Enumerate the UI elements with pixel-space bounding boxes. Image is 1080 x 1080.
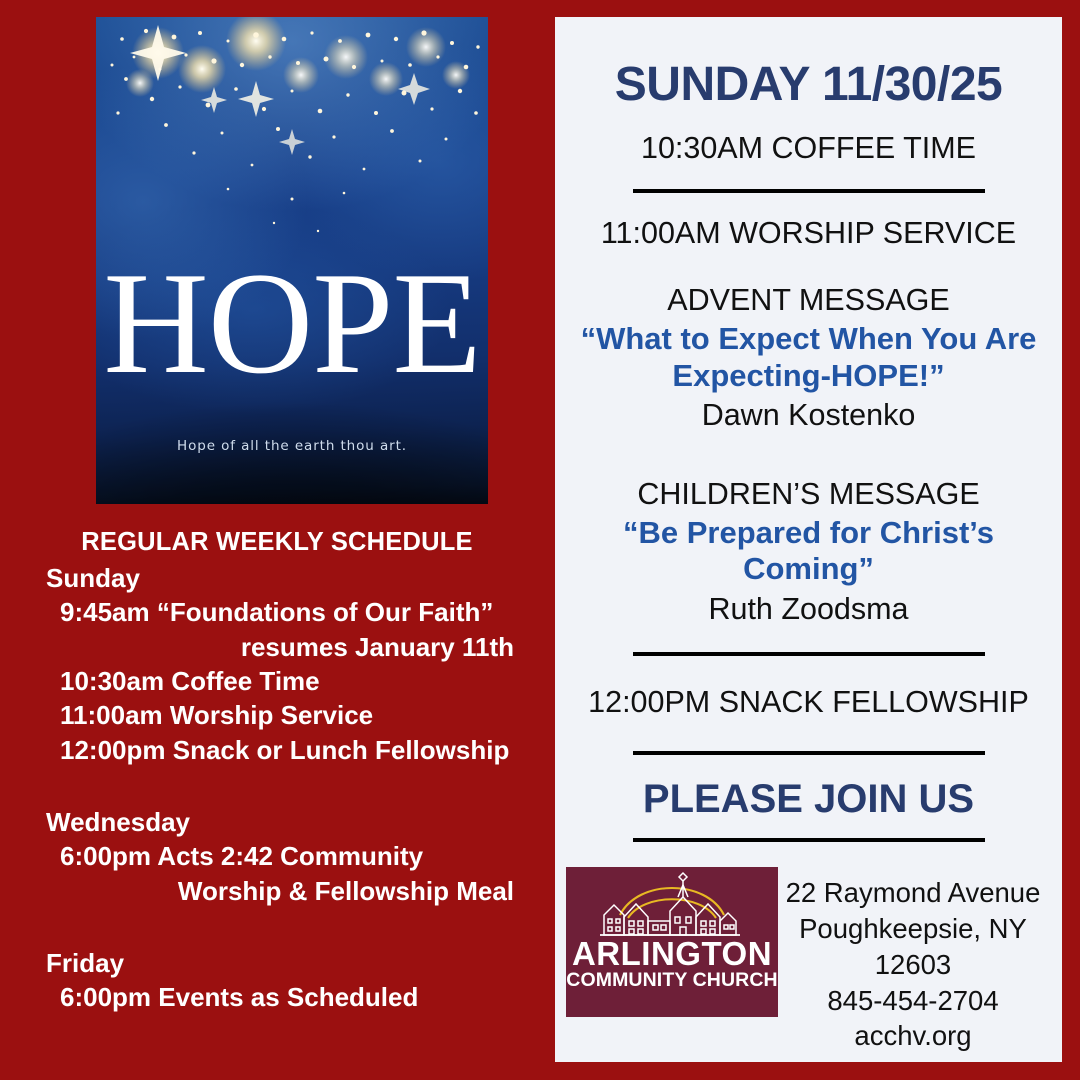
divider-4 bbox=[633, 838, 985, 842]
schedule-entry: 6:00pm Acts 2:42 Community bbox=[0, 839, 540, 873]
advent-message-speaker: Dawn Kostenko bbox=[555, 396, 1062, 434]
logo-name-text: ARLINGTON bbox=[566, 937, 778, 970]
schedule-group-wednesday: Wednesday 6:00pm Acts 2:42 Community Wor… bbox=[0, 805, 540, 908]
schedule-entry: 10:30am Coffee Time bbox=[0, 664, 540, 698]
divider-2 bbox=[633, 652, 985, 656]
left-column: HOPE Hope of all the earth thou art. REG… bbox=[0, 0, 540, 1080]
schedule-entry: 12:00pm Snack or Lunch Fellowship bbox=[0, 733, 540, 767]
schedule-day-label: Wednesday bbox=[0, 805, 540, 839]
schedule-entry: 11:00am Worship Service bbox=[0, 698, 540, 732]
childrens-message-label: CHILDREN’S MESSAGE bbox=[555, 476, 1062, 513]
weekly-schedule-heading: REGULAR WEEKLY SCHEDULE bbox=[0, 528, 540, 557]
schedule-entry-continuation: Worship & Fellowship Meal bbox=[0, 874, 540, 908]
divider-3 bbox=[633, 751, 985, 755]
hope-wordmark: HOPE bbox=[96, 250, 488, 396]
hope-wordmark-text: HOPE bbox=[103, 242, 480, 404]
service-coffee-time: 10:30AM COFFEE TIME bbox=[555, 130, 1062, 167]
service-snack-fellowship: 12:00PM SNACK FELLOWSHIP bbox=[555, 684, 1062, 721]
schedule-entry: 9:45am “Foundations of Our Faith” bbox=[0, 595, 540, 629]
advent-message-topic: “What to Expect When You Are Expecting-H… bbox=[555, 321, 1062, 394]
childrens-message-topic: “Be Prepared for Christ’s Coming” bbox=[555, 515, 1062, 588]
service-date-title: SUNDAY 11/30/25 bbox=[555, 57, 1062, 112]
weekly-schedule: REGULAR WEEKLY SCHEDULE Sunday 9:45am “F… bbox=[0, 528, 540, 1014]
schedule-day-label: Sunday bbox=[0, 561, 540, 595]
divider-1 bbox=[633, 189, 985, 193]
address-street: 22 Raymond Avenue bbox=[778, 875, 1048, 911]
panel-footer: ARLINGTON COMMUNITY CHURCH 22 Raymond Av… bbox=[555, 867, 1062, 1054]
schedule-spacer bbox=[0, 908, 540, 942]
schedule-spacer bbox=[0, 767, 540, 801]
please-join-us-callout: PLEASE JOIN US bbox=[555, 777, 1062, 822]
schedule-group-sunday: Sunday 9:45am “Foundations of Our Faith”… bbox=[0, 561, 540, 767]
sunday-service-panel: SUNDAY 11/30/25 10:30AM COFFEE TIME 11:0… bbox=[555, 17, 1062, 1062]
schedule-group-friday: Friday 6:00pm Events as Scheduled bbox=[0, 946, 540, 1015]
schedule-entry-continuation: resumes January 11th bbox=[0, 630, 540, 664]
address-city-state-zip: Poughkeepsie, NY 12603 bbox=[778, 911, 1048, 983]
hope-advent-graphic: HOPE Hope of all the earth thou art. bbox=[96, 17, 488, 504]
service-worship-time: 11:00AM WORSHIP SERVICE bbox=[555, 215, 1062, 252]
phone-number[interactable]: 845-454-2704 bbox=[778, 983, 1048, 1019]
arlington-community-church-logo[interactable]: ARLINGTON COMMUNITY CHURCH bbox=[566, 867, 778, 1017]
advent-message-label: ADVENT MESSAGE bbox=[555, 282, 1062, 319]
logo-subtitle-text: COMMUNITY CHURCH bbox=[566, 971, 778, 991]
contact-info: 22 Raymond Avenue Poughkeepsie, NY 12603… bbox=[778, 867, 1048, 1054]
church-skyline-icon bbox=[566, 871, 778, 943]
hope-tagline: Hope of all the earth thou art. bbox=[96, 438, 488, 454]
schedule-day-label: Friday bbox=[0, 946, 540, 980]
childrens-message-speaker: Ruth Zoodsma bbox=[555, 590, 1062, 628]
schedule-entry: 6:00pm Events as Scheduled bbox=[0, 980, 540, 1014]
website-url[interactable]: acchv.org bbox=[778, 1018, 1048, 1054]
